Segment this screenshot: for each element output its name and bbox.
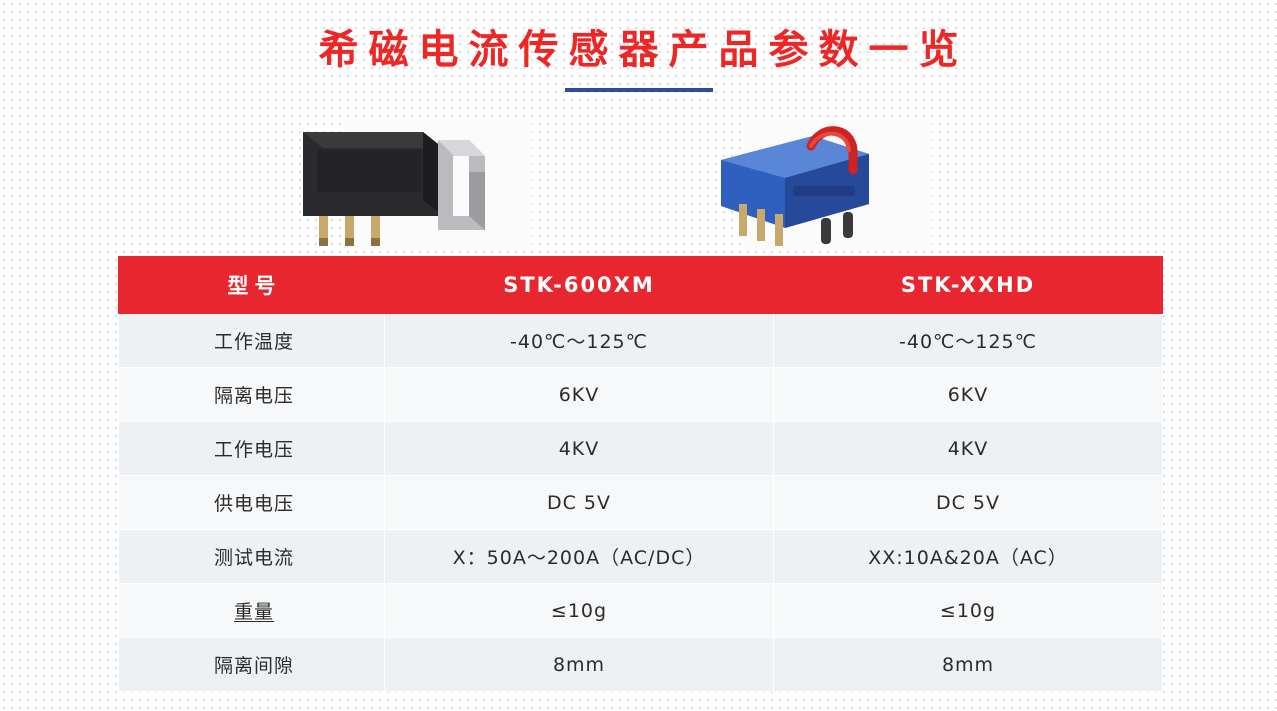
cell-test-current-stk-600xm: X：50A～200A（AC/DC） — [385, 530, 774, 584]
cell-weight-stk-600xm: ≤10g — [385, 584, 774, 638]
cell-isolation-voltage-stk-600xm: 6KV — [385, 368, 774, 422]
product-image-stk-600xm — [293, 120, 583, 256]
row-label-operating-temperature: 工作温度 — [119, 314, 385, 368]
column-header-model: 型号 — [119, 257, 385, 314]
row-label-isolation-voltage: 隔离电压 — [119, 368, 385, 422]
column-header-stk-xxhd: STK-XXHD — [774, 257, 1163, 314]
table-row: 工作电压 4KV 4KV — [119, 422, 1163, 476]
parameter-sheet: 希磁电流传感器产品参数一览 — [0, 0, 1277, 711]
stk-xxhd-photo — [693, 120, 983, 256]
row-label-weight: 重量 — [119, 584, 385, 638]
table-row: 隔离电压 6KV 6KV — [119, 368, 1163, 422]
cell-operating-temperature-stk-xxhd: -40℃～125℃ — [774, 314, 1163, 368]
cell-weight-stk-xxhd: ≤10g — [774, 584, 1163, 638]
cell-test-current-stk-xxhd: XX:10A&20A（AC） — [774, 530, 1163, 584]
cell-working-voltage-stk-xxhd: 4KV — [774, 422, 1163, 476]
cell-supply-voltage-stk-600xm: DC 5V — [385, 476, 774, 530]
cell-isolation-gap-stk-600xm: 8mm — [385, 638, 774, 692]
table-row: 工作温度 -40℃～125℃ -40℃～125℃ — [119, 314, 1163, 368]
cell-supply-voltage-stk-xxhd: DC 5V — [774, 476, 1163, 530]
row-label-working-voltage: 工作电压 — [119, 422, 385, 476]
product-image-stk-xxhd — [693, 120, 983, 256]
product-images — [118, 120, 1158, 256]
title-underline — [565, 88, 713, 92]
table-row: 供电电压 DC 5V DC 5V — [119, 476, 1163, 530]
table-body: 工作温度 -40℃～125℃ -40℃～125℃ 隔离电压 6KV 6KV 工作… — [119, 314, 1163, 692]
table-header: 型号 STK-600XM STK-XXHD — [119, 257, 1163, 314]
parameters-table: 型号 STK-600XM STK-XXHD 工作温度 -40℃～125℃ -40… — [118, 256, 1163, 692]
column-header-stk-600xm: STK-600XM — [385, 257, 774, 314]
row-label-test-current: 测试电流 — [119, 530, 385, 584]
page-title: 希磁电流传感器产品参数一览 — [309, 26, 969, 74]
row-label-supply-voltage: 供电电压 — [119, 476, 385, 530]
table-row: 重量 ≤10g ≤10g — [119, 584, 1163, 638]
page-title-wrap: 希磁电流传感器产品参数一览 — [0, 26, 1277, 74]
table-row: 隔离间隙 8mm 8mm — [119, 638, 1163, 692]
row-label-isolation-gap: 隔离间隙 — [119, 638, 385, 692]
table-row: 测试电流 X：50A～200A（AC/DC） XX:10A&20A（AC） — [119, 530, 1163, 584]
cell-isolation-gap-stk-xxhd: 8mm — [774, 638, 1163, 692]
cell-working-voltage-stk-600xm: 4KV — [385, 422, 774, 476]
cell-isolation-voltage-stk-xxhd: 6KV — [774, 368, 1163, 422]
cell-operating-temperature-stk-600xm: -40℃～125℃ — [385, 314, 774, 368]
stk-600xm-photo — [293, 120, 583, 256]
table-header-row: 型号 STK-600XM STK-XXHD — [119, 257, 1163, 314]
